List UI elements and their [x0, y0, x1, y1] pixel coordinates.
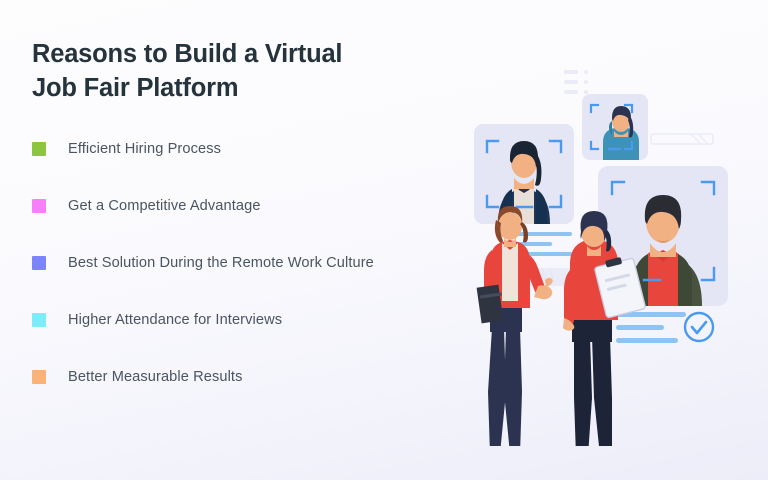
bullet-swatch-icon — [32, 199, 46, 213]
check-circle-icon — [685, 313, 713, 341]
list-item: Better Measurable Results — [32, 367, 492, 387]
window-decoration-icon — [651, 134, 713, 144]
list-item: Best Solution During the Remote Work Cul… — [32, 253, 492, 273]
slide-root: Reasons to Build a Virtual Job Fair Plat… — [0, 0, 768, 480]
list-item: Get a Competitive Advantage — [32, 196, 492, 216]
profile-card-top — [582, 94, 648, 162]
list-item-label: Get a Competitive Advantage — [68, 198, 261, 214]
menu-decoration-icon — [564, 70, 588, 94]
list-item-label: Higher Attendance for Interviews — [68, 312, 282, 328]
bullet-swatch-icon — [32, 256, 46, 270]
reasons-list: Efficient Hiring Process Get a Competiti… — [32, 139, 492, 387]
list-item-label: Efficient Hiring Process — [68, 141, 221, 157]
page-title: Reasons to Build a Virtual Job Fair Plat… — [32, 38, 492, 106]
bullet-swatch-icon — [32, 313, 46, 327]
list-item-label: Better Measurable Results — [68, 369, 242, 385]
card-text-lines — [616, 312, 686, 343]
bullet-swatch-icon — [32, 142, 46, 156]
virtual-job-fair-illustration — [446, 36, 768, 446]
bullet-swatch-icon — [32, 370, 46, 384]
content-column: Reasons to Build a Virtual Job Fair Plat… — [32, 38, 492, 387]
list-item: Efficient Hiring Process — [32, 139, 492, 159]
list-item: Higher Attendance for Interviews — [32, 310, 492, 330]
list-item-label: Best Solution During the Remote Work Cul… — [68, 255, 374, 271]
